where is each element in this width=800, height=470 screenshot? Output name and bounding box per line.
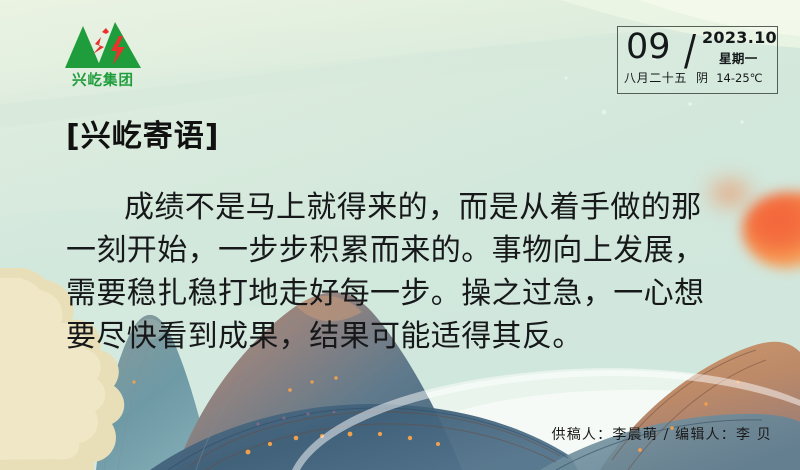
- date-box: 09 / 2023.10 星期一 八月二十五 阴 14-25℃: [617, 26, 778, 94]
- quote-body: 成绩不是马上就得来的，而是从着手做的那 一刻开始，一步步积累而来的。事物向上发展…: [66, 186, 742, 358]
- date-box-bottom: 八月二十五 阴 14-25℃: [618, 69, 779, 86]
- quote-line: 一刻开始，一步步积累而来的。事物向上发展，: [66, 229, 742, 272]
- quote-line: 成绩不是马上就得来的，而是从着手做的那: [66, 186, 742, 229]
- credits-line: 供稿人：李晨萌 / 编辑人：李 贝: [552, 424, 772, 444]
- page-title: [兴屹寄语]: [66, 118, 219, 156]
- date-day: 09: [626, 25, 671, 69]
- weather-condition: 阴: [696, 69, 708, 86]
- date-box-top: 09 / 2023.10 星期一: [618, 27, 777, 71]
- company-logo: 兴屹集团: [57, 20, 149, 90]
- date-weekday: 星期一: [719, 48, 758, 67]
- logo-wordmark: 兴屹集团: [57, 73, 149, 89]
- daily-quote-card: 兴屹集团 09 / 2023.10 星期一 八月二十五 阴 14-25℃ [兴屹…: [0, 0, 800, 470]
- quote-line: 需要稳扎稳打地走好每一步。操之过急，一心想: [66, 272, 742, 315]
- twin-mountain-lightning-logo-icon: [57, 20, 149, 72]
- lunar-date: 八月二十五: [624, 69, 687, 86]
- quote-line: 要尽快看到成果，结果可能适得其反。: [66, 315, 742, 358]
- date-year-month: 2023.10: [702, 28, 777, 47]
- temperature-range: 14-25℃: [716, 71, 762, 85]
